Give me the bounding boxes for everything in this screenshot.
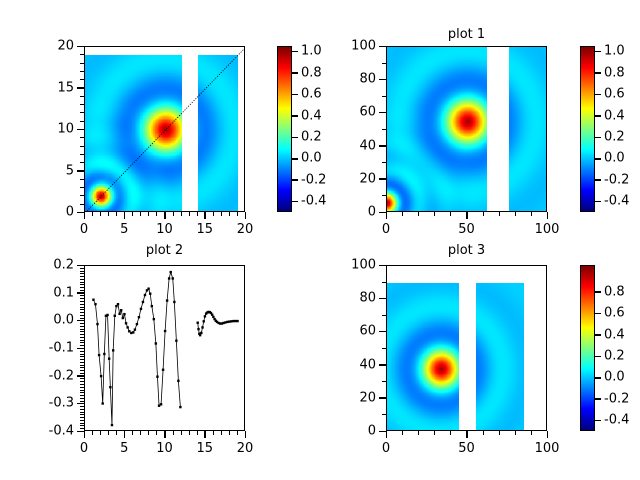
axis-tick bbox=[237, 431, 238, 435]
axis-tick bbox=[204, 431, 206, 438]
axis-tick bbox=[108, 431, 109, 435]
axis-tick bbox=[173, 431, 174, 435]
data-point-marker bbox=[212, 316, 214, 318]
axis-tick bbox=[77, 265, 84, 267]
panel-title: plot 2 bbox=[84, 243, 245, 258]
axis-tick bbox=[229, 431, 230, 435]
data-point-marker bbox=[126, 326, 128, 328]
data-point-marker bbox=[168, 277, 170, 279]
data-point-marker bbox=[149, 292, 151, 294]
data-point-marker bbox=[164, 330, 166, 332]
data-point-marker bbox=[156, 375, 158, 377]
figure-canvas: 0510152005101520-0.4-0.20.00.20.40.60.81… bbox=[0, 0, 640, 480]
data-point-marker bbox=[175, 340, 177, 342]
axis-tick bbox=[80, 367, 84, 368]
data-point-marker bbox=[153, 318, 155, 320]
data-point-marker bbox=[98, 354, 100, 356]
axis-tick bbox=[80, 309, 84, 310]
data-point-marker bbox=[204, 315, 206, 317]
y-tick-label: -0.4 bbox=[49, 424, 74, 439]
axis-tick bbox=[181, 431, 182, 435]
data-point-marker bbox=[109, 386, 111, 388]
axis-tick bbox=[80, 315, 84, 316]
axis-tick bbox=[80, 428, 84, 429]
data-point-marker bbox=[123, 313, 125, 315]
data-point-marker bbox=[172, 277, 174, 279]
axis-tick bbox=[80, 345, 84, 346]
data-point-marker bbox=[211, 313, 213, 315]
axis-tick bbox=[197, 431, 198, 435]
data-point-marker bbox=[142, 301, 144, 303]
axis-tick bbox=[80, 331, 84, 332]
plot-area bbox=[84, 265, 245, 431]
axis-tick bbox=[148, 431, 149, 435]
axis-tick bbox=[77, 348, 84, 350]
data-point-marker bbox=[112, 349, 114, 351]
axis-tick bbox=[80, 390, 84, 391]
axis-tick bbox=[80, 395, 84, 396]
axis-tick bbox=[80, 276, 84, 277]
data-point-marker bbox=[120, 309, 122, 311]
data-point-marker bbox=[118, 313, 120, 315]
axis-tick bbox=[80, 409, 84, 410]
data-point-marker bbox=[170, 271, 172, 273]
data-point-marker bbox=[197, 328, 199, 330]
data-point-marker bbox=[140, 308, 142, 310]
axis-tick bbox=[80, 318, 84, 319]
panel-bottom-left: plot 205101520-0.4-0.3-0.2-0.10.00.10.2 bbox=[0, 0, 640, 480]
data-point-marker bbox=[179, 406, 181, 408]
data-point-marker bbox=[203, 320, 205, 322]
axis-tick bbox=[245, 431, 247, 438]
axis-tick bbox=[80, 298, 84, 299]
y-tick-label: -0.3 bbox=[49, 396, 74, 411]
axis-tick bbox=[80, 384, 84, 385]
axis-tick bbox=[80, 414, 84, 415]
data-point-marker bbox=[236, 320, 238, 322]
x-tick-label: 15 bbox=[196, 441, 213, 456]
axis-tick bbox=[213, 431, 214, 435]
data-point-marker bbox=[199, 334, 201, 336]
axis-tick bbox=[77, 403, 84, 405]
axis-tick bbox=[189, 431, 190, 435]
axis-tick bbox=[80, 423, 84, 424]
axis-tick bbox=[80, 362, 84, 363]
data-point-marker bbox=[162, 369, 164, 371]
x-tick-label: 5 bbox=[120, 441, 128, 456]
axis-tick bbox=[80, 378, 84, 379]
axis-tick bbox=[77, 431, 84, 433]
axis-tick bbox=[80, 365, 84, 366]
data-point-marker bbox=[94, 303, 96, 305]
axis-tick bbox=[80, 398, 84, 399]
data-point-marker bbox=[108, 357, 110, 359]
data-point-marker bbox=[147, 287, 149, 289]
axis-tick bbox=[80, 312, 84, 313]
data-point-marker bbox=[138, 316, 140, 318]
axis-tick bbox=[77, 292, 84, 294]
axis-tick bbox=[80, 326, 84, 327]
data-point-marker bbox=[102, 402, 104, 404]
axis-tick bbox=[80, 354, 84, 355]
axis-tick bbox=[80, 340, 84, 341]
axis-tick bbox=[80, 271, 84, 272]
axis-tick bbox=[221, 431, 222, 435]
axis-tick bbox=[80, 370, 84, 371]
axis-tick bbox=[80, 268, 84, 269]
axis-tick bbox=[80, 282, 84, 283]
data-point-marker bbox=[134, 328, 136, 330]
axis-tick bbox=[156, 431, 157, 435]
data-point-marker bbox=[201, 326, 203, 328]
axis-tick bbox=[132, 431, 133, 435]
axis-tick bbox=[80, 304, 84, 305]
axis-tick bbox=[116, 431, 117, 435]
axis-tick bbox=[80, 295, 84, 296]
axis-tick bbox=[77, 375, 84, 377]
data-point-marker bbox=[111, 424, 113, 426]
data-point-marker bbox=[197, 322, 199, 324]
data-point-marker bbox=[144, 294, 146, 296]
axis-tick bbox=[77, 320, 84, 322]
axis-tick bbox=[80, 287, 84, 288]
axis-tick bbox=[80, 420, 84, 421]
axis-tick bbox=[80, 334, 84, 335]
axis-tick bbox=[80, 406, 84, 407]
y-tick-label: 0.1 bbox=[53, 285, 74, 300]
axis-tick bbox=[80, 425, 84, 426]
data-point-marker bbox=[166, 299, 168, 301]
data-point-marker bbox=[173, 301, 175, 303]
data-point-marker bbox=[160, 403, 162, 405]
axis-tick bbox=[80, 356, 84, 357]
axis-tick bbox=[80, 273, 84, 274]
data-point-marker bbox=[132, 331, 134, 333]
data-point-marker bbox=[155, 342, 157, 344]
axis-tick bbox=[92, 431, 93, 435]
axis-tick bbox=[80, 387, 84, 388]
axis-tick bbox=[80, 373, 84, 374]
y-tick-label: 0.2 bbox=[53, 258, 74, 273]
axis-tick bbox=[80, 417, 84, 418]
axis-tick bbox=[100, 431, 101, 435]
axis-tick bbox=[80, 279, 84, 280]
axis-tick bbox=[80, 401, 84, 402]
data-point-marker bbox=[200, 332, 202, 334]
axis-tick bbox=[80, 342, 84, 343]
data-point-marker bbox=[100, 375, 102, 377]
data-point-marker bbox=[103, 353, 105, 355]
data-point-marker bbox=[136, 323, 138, 325]
axis-tick bbox=[80, 412, 84, 413]
line-series-segment-1 bbox=[93, 272, 180, 425]
x-tick-label: 20 bbox=[237, 441, 254, 456]
data-point-marker bbox=[122, 317, 124, 319]
data-point-marker bbox=[92, 299, 94, 301]
axis-tick bbox=[124, 431, 126, 438]
data-point-marker bbox=[151, 305, 153, 307]
data-point-marker bbox=[117, 303, 119, 305]
axis-tick bbox=[80, 329, 84, 330]
axis-tick bbox=[80, 284, 84, 285]
axis-tick bbox=[80, 392, 84, 393]
x-tick-label: 10 bbox=[156, 441, 173, 456]
data-point-marker bbox=[114, 315, 116, 317]
axis-tick bbox=[80, 323, 84, 324]
axis-tick bbox=[80, 359, 84, 360]
data-point-marker bbox=[106, 314, 108, 316]
line-series-group bbox=[85, 266, 245, 431]
axis-tick bbox=[164, 431, 166, 438]
axis-tick bbox=[80, 337, 84, 338]
axis-tick bbox=[80, 290, 84, 291]
data-point-marker bbox=[96, 323, 98, 325]
x-tick-label: 0 bbox=[80, 441, 88, 456]
axis-tick bbox=[80, 307, 84, 308]
data-point-marker bbox=[125, 322, 127, 324]
axis-tick bbox=[80, 351, 84, 352]
axis-tick bbox=[80, 381, 84, 382]
data-point-marker bbox=[177, 380, 179, 382]
axis-tick bbox=[80, 301, 84, 302]
y-tick-label: 0.0 bbox=[53, 313, 74, 328]
y-tick-label: -0.1 bbox=[49, 341, 74, 356]
axis-tick bbox=[140, 431, 141, 435]
y-tick-label: -0.2 bbox=[49, 368, 74, 383]
